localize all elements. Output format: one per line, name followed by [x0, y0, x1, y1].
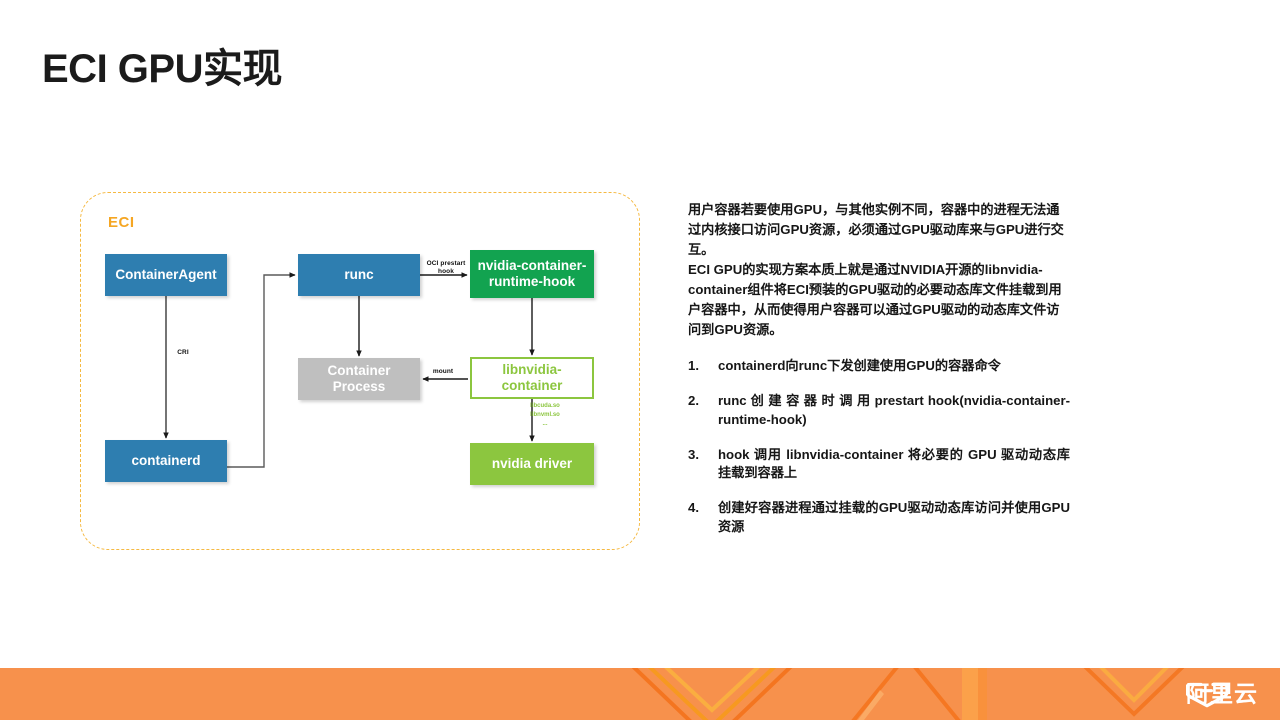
intro-paragraph-2: ECI GPU的实现方案本质上就是通过NVIDIA开源的libnvidia-co… [688, 260, 1070, 340]
node-runc[interactable]: runc [298, 254, 420, 296]
step-text: hook 调用 libnvidia-container 将必要的 GPU 驱动动… [718, 447, 1070, 481]
footer-banner: 阿里云 [0, 668, 1280, 720]
node-containerd-label: containerd [131, 453, 200, 469]
list-item: 3. hook 调用 libnvidia-container 将必要的 GPU … [688, 446, 1070, 483]
node-nvidia-driver[interactable]: nvidia driver [470, 443, 594, 485]
step-text: 创建好容器进程通过挂载的GPU驱动动态库访问并使用GPU资源 [718, 500, 1070, 534]
node-container-process[interactable]: Container Process [298, 358, 420, 400]
edge-label-shared-libraries: libcuda.so libnvml.so ... [508, 402, 582, 429]
node-container-process-label: Container Process [302, 363, 416, 396]
node-libnvidia-container[interactable]: libnvidia-container [470, 357, 594, 399]
architecture-diagram: ECI ContainerAgent [80, 192, 640, 550]
intro-paragraph-1: 用户容器若要使用GPU，与其他实例不同，容器中的进程无法通过内核接口访问GPU资… [688, 200, 1070, 260]
edge-label-cri: CRI [170, 349, 196, 357]
page-title: ECI GPU实现 [42, 36, 282, 94]
step-text: containerd向runc下发创建使用GPU的容器命令 [718, 358, 1001, 373]
list-item: 4. 创建好容器进程通过挂载的GPU驱动动态库访问并使用GPU资源 [688, 499, 1070, 536]
step-text: runc 创 建 容 器 时 调 用 prestart hook(nvidia-… [718, 393, 1070, 427]
list-item: 1. containerd向runc下发创建使用GPU的容器命令 [688, 357, 1070, 376]
node-nvidia-driver-label: nvidia driver [492, 456, 572, 472]
node-container-agent-label: ContainerAgent [115, 267, 216, 283]
step-number: 2. [688, 392, 712, 411]
edge-label-mount: mount [427, 368, 459, 376]
node-libnvidia-container-label: libnvidia-container [476, 362, 588, 395]
edge-label-oci-prestart-hook: OCI prestart hook [424, 260, 468, 276]
list-item: 2. runc 创 建 容 器 时 调 用 prestart hook(nvid… [688, 392, 1070, 429]
step-number: 1. [688, 357, 712, 376]
banner-chevron-pattern [0, 668, 1280, 720]
slide-canvas: ECI GPU实现 ECI [0, 0, 1280, 720]
node-container-agent[interactable]: ContainerAgent [105, 254, 227, 296]
step-number: 3. [688, 446, 712, 465]
alibaba-cloud-bracket-icon [1186, 683, 1230, 709]
node-nvidia-container-runtime-hook[interactable]: nvidia-container-runtime-hook [470, 250, 594, 298]
node-nvidia-container-runtime-hook-label: nvidia-container-runtime-hook [474, 258, 590, 291]
intro-text: 用户容器若要使用GPU，与其他实例不同，容器中的进程无法通过内核接口访问GPU资… [688, 200, 1070, 340]
step-number: 4. [688, 499, 712, 518]
node-containerd[interactable]: containerd [105, 440, 227, 482]
explanation-panel: 用户容器若要使用GPU，与其他实例不同，容器中的进程无法通过内核接口访问GPU资… [688, 200, 1070, 553]
node-runc-label: runc [344, 267, 373, 283]
steps-list: 1. containerd向runc下发创建使用GPU的容器命令 2. runc… [688, 357, 1070, 536]
brand-logo: 阿里云 [1186, 683, 1258, 706]
